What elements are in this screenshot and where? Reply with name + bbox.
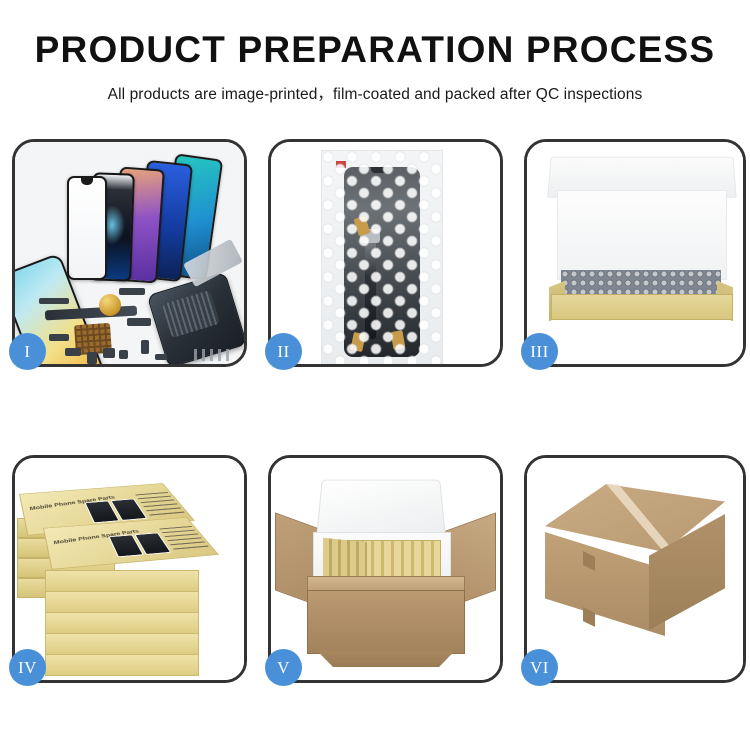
process-step-3: III xyxy=(524,139,746,367)
infographic-page: PRODUCT PREPARATION PROCESS All products… xyxy=(0,0,750,750)
carton-packing-illustration xyxy=(271,458,500,680)
process-step-1: I xyxy=(12,139,247,367)
gold-box-lid-top: Mobile Phone Spare Parts xyxy=(43,517,219,570)
foam-insert xyxy=(557,190,727,280)
small-part xyxy=(141,340,149,354)
step-badge-6: VI xyxy=(521,649,558,686)
sealed-carton-illustration xyxy=(527,458,743,680)
step-badge-2: II xyxy=(265,333,302,370)
styrofoam-lid xyxy=(316,480,446,539)
process-step-2: II xyxy=(268,139,503,367)
screw-set xyxy=(194,349,234,361)
step-6-image xyxy=(527,458,743,680)
small-part xyxy=(155,354,167,360)
box-tray xyxy=(551,270,731,312)
carton-body xyxy=(307,590,465,654)
bubble-wrap-bag xyxy=(321,150,443,364)
tray-front-face xyxy=(551,294,733,320)
step-4-image: Mobile Phone Spare Parts Mobile Phone Sp… xyxy=(15,458,244,680)
step-badge-5: V xyxy=(265,649,302,686)
small-part xyxy=(119,350,128,359)
step-badge-3: III xyxy=(521,333,558,370)
small-part xyxy=(87,352,97,364)
open-box-illustration xyxy=(527,142,743,364)
step-badge-4: IV xyxy=(9,649,46,686)
gold-box-edge xyxy=(45,570,199,592)
step-1-image xyxy=(15,142,244,364)
page-title: PRODUCT PREPARATION PROCESS xyxy=(0,30,750,71)
gold-box-edge xyxy=(45,654,199,676)
process-step-6: VI xyxy=(524,455,746,683)
small-part xyxy=(49,334,69,341)
small-part xyxy=(127,318,151,326)
process-step-4: Mobile Phone Spare Parts Mobile Phone Sp… xyxy=(12,455,247,683)
small-part xyxy=(103,348,115,358)
stacked-boxes-illustration: Mobile Phone Spare Parts Mobile Phone Sp… xyxy=(15,458,244,680)
gold-box-edge xyxy=(45,591,199,613)
bubble-texture xyxy=(322,151,442,364)
step-3-image xyxy=(527,142,743,364)
small-part xyxy=(65,348,81,356)
gold-box-edge xyxy=(45,612,199,634)
small-part xyxy=(119,288,145,295)
phone-screen-white xyxy=(67,176,107,280)
header: PRODUCT PREPARATION PROCESS All products… xyxy=(0,0,750,104)
step-badge-1: I xyxy=(9,333,46,370)
process-grid: I II xyxy=(12,139,738,739)
small-part xyxy=(39,298,69,304)
phone-parts-illustration xyxy=(15,142,244,364)
gold-coil-part xyxy=(99,294,121,316)
bubble-wrap-illustration xyxy=(271,142,500,364)
gold-box-edge xyxy=(45,633,199,655)
process-step-5: V xyxy=(268,455,503,683)
step-5-image xyxy=(271,458,500,680)
page-subtitle: All products are image-printed，film-coat… xyxy=(0,82,750,104)
wrapped-contents xyxy=(561,270,721,296)
step-2-image xyxy=(271,142,500,364)
